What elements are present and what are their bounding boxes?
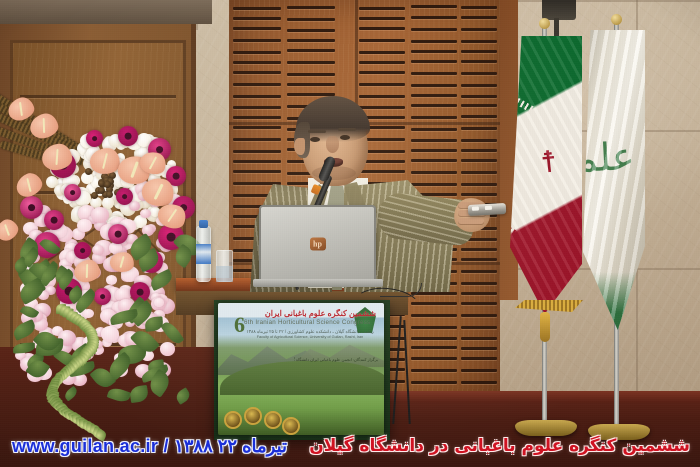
panel-slot — [461, 326, 497, 329]
bottle-label — [196, 244, 211, 264]
banner-medallions — [224, 405, 302, 435]
eyebrow-right — [338, 128, 356, 131]
banner-title-en: 6th Iranian Horticultural Science Congre… — [244, 319, 378, 326]
hp-logo-icon: hp — [310, 238, 326, 251]
panel-slot — [287, 39, 335, 42]
panel-slot — [287, 6, 335, 9]
panel-slot — [461, 16, 497, 19]
pointer-button[interactable] — [472, 206, 479, 210]
laptop-base[interactable] — [253, 279, 383, 287]
foliage-leaf — [129, 385, 149, 403]
panel-slot — [461, 72, 497, 75]
marble-seam — [500, 0, 700, 2]
flag-stand-base-iran — [515, 420, 577, 436]
panel-slot — [233, 17, 281, 20]
skirting-board — [380, 391, 700, 403]
panel-slot — [411, 50, 457, 53]
door-lintel — [0, 0, 212, 24]
panel-slot — [461, 337, 497, 340]
eye-right — [340, 135, 350, 140]
pale-pink-flower — [83, 309, 94, 319]
ear — [294, 138, 305, 155]
panel-slot — [411, 40, 457, 43]
finger — [458, 218, 484, 224]
panel-slot — [287, 61, 335, 64]
panel-slot — [461, 28, 497, 31]
panel-slot — [359, 17, 405, 20]
pointer-button[interactable] — [485, 206, 492, 210]
panel-slot — [461, 6, 497, 9]
panel-slot — [287, 18, 335, 21]
bottle-cap — [199, 220, 208, 228]
anthurium-flower — [0, 216, 22, 244]
calligraphy-emblem-icon: علم — [586, 139, 641, 271]
panel-slot — [461, 347, 497, 350]
foliage-leaf — [174, 387, 192, 405]
panel-slot — [287, 73, 335, 76]
panel-slot — [359, 71, 405, 74]
gerbera-flower — [116, 188, 133, 205]
congress-banner: 6 ششمین کنگره علوم باغبانی ایران 6th Ira… — [218, 303, 384, 435]
nose — [326, 136, 339, 153]
gerbera-flower — [44, 210, 64, 230]
panel-slot — [233, 71, 281, 74]
allah-emblem-icon: ☨ — [530, 146, 567, 183]
panel-slot — [411, 369, 457, 372]
kufic-border-green — [510, 90, 581, 139]
glass-water-level — [216, 266, 233, 282]
panel-slot — [411, 381, 457, 384]
dark-berry-cluster — [106, 191, 113, 198]
panel-slot — [461, 357, 497, 360]
panel-slot — [359, 39, 405, 42]
panel-slot — [359, 7, 405, 10]
laser-pointer-remote[interactable] — [468, 203, 507, 216]
panel-slot — [233, 51, 281, 54]
panel-slot — [461, 302, 497, 305]
panel-slot — [411, 326, 457, 329]
eye-left — [310, 137, 320, 142]
pale-pink-flower — [91, 207, 109, 222]
panel-slot — [461, 381, 497, 384]
panel-slot — [411, 60, 457, 63]
pale-pink-flower — [106, 275, 117, 285]
foliage-leaf — [13, 343, 35, 354]
panel-slot — [461, 60, 497, 63]
panel-slot — [461, 314, 497, 317]
panel-slot — [359, 51, 405, 54]
panel-slot — [359, 83, 405, 86]
gerbera-flower — [20, 196, 43, 219]
anthurium-flower — [13, 170, 46, 201]
panel-slot — [411, 5, 457, 8]
foliage-leaf — [63, 386, 80, 402]
panel-slot — [233, 27, 281, 30]
gerbera-flower — [86, 130, 103, 147]
gerbera-flower — [118, 126, 138, 146]
panel-slot — [287, 83, 335, 86]
banner-sponsors: برگزار کنندگان: انجمن علوم باغبانی ایران… — [294, 357, 378, 362]
pale-pink-flower — [77, 219, 92, 233]
flag-tassel — [540, 312, 550, 342]
panel-slot — [461, 50, 497, 53]
floral-arrangement — [0, 92, 220, 422]
banner-medallion — [224, 411, 242, 429]
panel-slot — [461, 84, 497, 87]
flag-finial-university — [611, 14, 622, 25]
panel-slot — [359, 61, 405, 64]
gerbera-flower — [74, 242, 91, 259]
panel-slot — [411, 28, 457, 31]
panel-slot — [411, 357, 457, 360]
banner-subtitle-en: Faculty of Agricultural Science, Univers… — [244, 335, 376, 340]
kufic-border-red — [510, 224, 581, 273]
flag-finial-iran — [539, 18, 550, 29]
gerbera-flower — [94, 288, 111, 305]
panel-slot — [287, 49, 335, 52]
banner-medallion — [244, 407, 262, 425]
banner-medallion — [282, 417, 300, 435]
foliage-leaf — [106, 385, 131, 403]
pale-pink-flower — [154, 298, 164, 307]
caption-left: www.guilan.ac.ir / ۱۳۸۸ تیرماه ۲۲ — [12, 436, 287, 457]
conference-photo: ☨ علم — [0, 0, 700, 467]
panel-slot — [411, 346, 457, 349]
panel-slot — [461, 369, 497, 372]
banner-medallion — [264, 411, 282, 429]
panel-slot — [461, 292, 497, 295]
eyebrow-left — [308, 130, 326, 133]
laptop-lid: hp — [259, 205, 376, 281]
panel-slot — [411, 72, 457, 75]
panel-slot — [233, 7, 281, 10]
panel-slot — [411, 84, 457, 87]
panel-slot — [411, 16, 457, 19]
panel-slot — [233, 83, 281, 86]
pale-pink-flower — [160, 342, 176, 356]
banner-subtitle-fa: رشت ـ دانشگاه گیلان ـ دانشکده علوم کشاور… — [244, 329, 376, 334]
gerbera-flower — [108, 224, 128, 244]
gerbera-flower — [64, 184, 81, 201]
pale-pink-flower — [101, 326, 119, 342]
ceiling-fixture — [542, 0, 576, 20]
banner-sponsors-text: برگزار کنندگان: انجمن علوم باغبانی ایران… — [294, 357, 378, 362]
panel-slot — [287, 29, 335, 32]
panel-slot — [233, 39, 281, 42]
caption-right: ششمین کنگره علوم باغبانی در دانشگاه گیلا… — [309, 436, 690, 456]
panel-slot — [233, 61, 281, 64]
pale-pink-flower — [92, 245, 103, 255]
panel-slot — [359, 27, 405, 30]
panel-slot — [461, 40, 497, 43]
fixture-arm — [554, 18, 559, 36]
panel-slot — [411, 337, 457, 340]
